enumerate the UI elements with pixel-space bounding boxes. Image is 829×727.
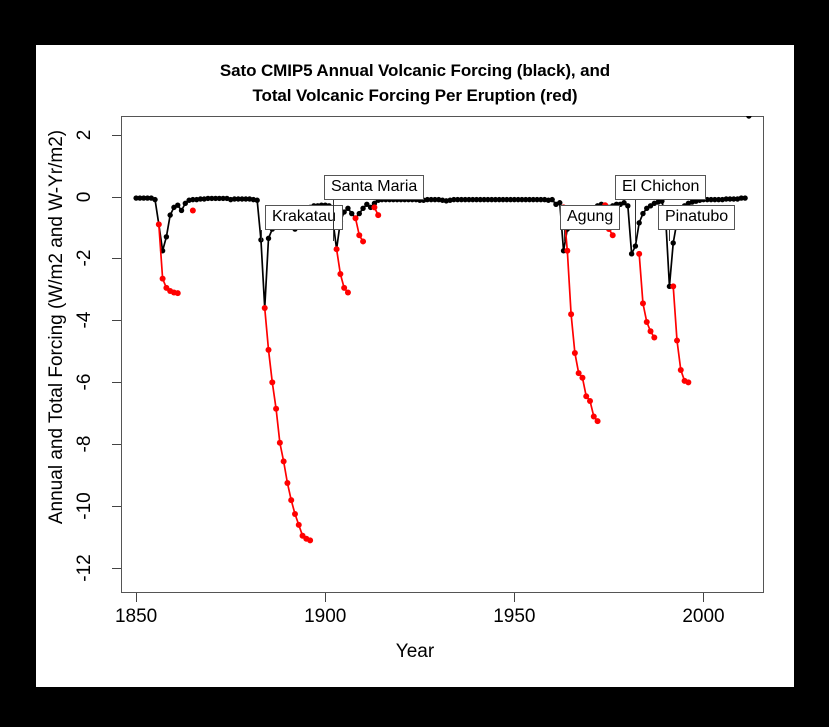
y-tick-mark [112,258,121,259]
data-point [307,537,313,543]
data-point [334,246,340,252]
series-6 [371,204,381,218]
series-9 [636,251,657,341]
data-point [175,203,180,208]
data-point [360,238,366,244]
chart-panel: Sato CMIP5 Annual Volcanic Forcing (blac… [36,45,794,687]
annotation-leader-line [261,230,262,241]
x-tick-label: 1950 [479,606,549,628]
data-point [277,440,283,446]
y-tick-mark [112,506,121,507]
annotation-leader-line [635,200,636,241]
data-point [636,251,642,257]
series-3 [262,305,313,543]
data-point [357,211,362,216]
data-point [175,290,181,296]
data-point [371,204,377,210]
y-tick-mark [112,382,121,383]
data-point [288,497,294,503]
y-tick-mark [112,320,121,321]
x-axis-label: Year [36,641,794,663]
data-point [269,379,275,385]
data-point [564,248,570,254]
data-point [281,458,287,464]
annotation-leader-line [669,230,670,241]
x-tick-mark [136,593,137,602]
data-point [167,212,172,217]
data-point [595,418,601,424]
series-line [265,308,310,540]
y-tick-label: -2 [74,235,96,281]
data-point [587,398,593,404]
data-point [636,220,641,225]
data-point [266,347,272,353]
annotation-label-krakatau: Krakatau [265,205,343,230]
data-point [337,271,343,277]
y-tick-mark [112,135,121,136]
annotation-leader-line [333,200,334,241]
x-tick-label: 2000 [668,606,738,628]
data-point [591,413,597,419]
data-point [375,212,381,218]
data-point [345,206,350,211]
data-point [164,234,169,239]
data-point [640,211,645,216]
series-5 [353,215,367,244]
data-point [742,195,747,200]
annotation-label-agung: Agung [560,205,620,230]
series-line [136,198,745,308]
y-tick-label: -8 [74,421,96,467]
series-2 [190,207,196,213]
data-point [190,207,196,213]
y-tick-label: -10 [74,483,96,529]
data-point [610,232,616,238]
data-point [576,370,582,376]
series-line [159,224,178,293]
chart-title-line2: Total Volcanic Forcing Per Eruption (red… [36,84,794,109]
data-point [648,328,654,334]
x-tick-label: 1850 [101,606,171,628]
data-point [341,285,347,291]
data-point [353,215,359,221]
annotation-label-el-chichon: El Chichon [615,175,706,200]
x-tick-mark [703,593,704,602]
y-tick-mark [112,197,121,198]
series-1 [156,221,181,296]
annotation-leader-line [564,230,565,241]
x-tick-mark [514,593,515,602]
data-point [156,221,162,227]
y-tick-label: 2 [74,112,96,158]
data-point [549,197,554,202]
data-point [625,203,630,208]
data-point [296,522,302,528]
data-point [670,283,676,289]
data-point [345,290,351,296]
data-point [262,305,268,311]
data-point [360,206,365,211]
annotation-label-santa-maria: Santa Maria [324,175,424,200]
data-point [644,319,650,325]
data-point [356,232,362,238]
y-axis-label: Annual and Total Forcing (W/m2 and W-Yr/… [46,27,68,627]
y-tick-label: 0 [74,174,96,220]
data-point [266,236,271,241]
data-point [633,243,638,248]
y-tick-mark [112,444,121,445]
data-point [572,350,578,356]
data-point [674,338,680,344]
y-tick-label: -4 [74,297,96,343]
annotation-label-pinatubo: Pinatubo [658,205,735,230]
series-10 [670,283,691,385]
x-tick-mark [325,593,326,602]
series-4 [334,246,351,295]
figure-page: Sato CMIP5 Annual Volcanic Forcing (blac… [0,0,829,727]
data-point [273,406,279,412]
data-point [349,211,354,216]
data-point [629,251,634,256]
y-tick-label: -12 [74,545,96,591]
x-tick-label: 1900 [290,606,360,628]
data-point [746,116,751,119]
series-7 [561,204,601,424]
data-point [678,367,684,373]
chart-title: Sato CMIP5 Annual Volcanic Forcing (blac… [36,59,794,108]
data-point [284,480,290,486]
data-point [254,198,259,203]
data-point [292,511,298,517]
data-point [685,379,691,385]
data-point [160,276,166,282]
chart-title-line1: Sato CMIP5 Annual Volcanic Forcing (blac… [36,59,794,84]
y-tick-mark [112,568,121,569]
data-point [671,240,676,245]
data-point [651,334,657,340]
data-point [568,311,574,317]
data-point [583,393,589,399]
data-point [579,375,585,381]
data-point [152,197,157,202]
data-point [640,300,646,306]
y-tick-label: -6 [74,359,96,405]
data-point [179,208,184,213]
